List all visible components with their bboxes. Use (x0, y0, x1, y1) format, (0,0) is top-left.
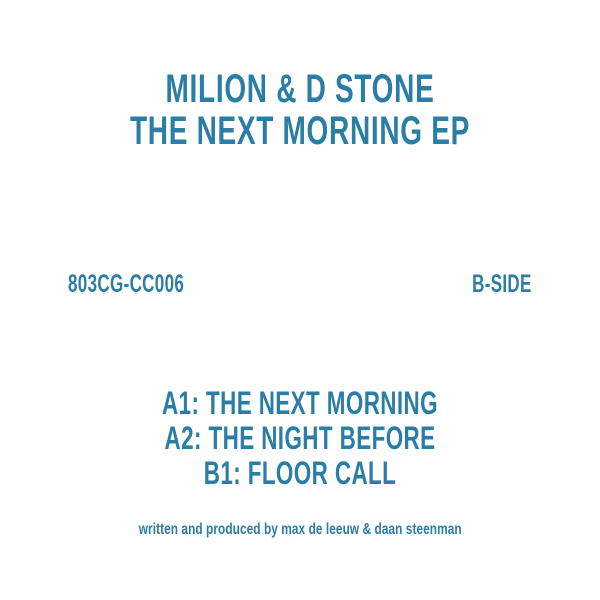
track-item: A1: THE NEXT MORNING (90, 386, 510, 421)
meta-row: 803CG-CC006 B-SIDE (68, 272, 532, 296)
title-block: MILION & D STONE THE NEXT MORNING EP (0, 68, 600, 152)
track-item: B1: FLOOR CALL (90, 456, 510, 491)
credits-block: written and produced by max de leeuw & d… (0, 521, 600, 539)
tracklist: A1: THE NEXT MORNING A2: THE NIGHT BEFOR… (0, 386, 600, 491)
credits-text: written and produced by max de leeuw & d… (139, 521, 462, 539)
catalog-number: 803CG-CC006 (68, 272, 184, 296)
record-sleeve-artwork: MILION & D STONE THE NEXT MORNING EP 803… (0, 0, 600, 600)
release-title: THE NEXT MORNING EP (90, 110, 510, 152)
side-label: B-SIDE (472, 272, 532, 296)
track-item: A2: THE NIGHT BEFORE (90, 421, 510, 456)
artist-name: MILION & D STONE (90, 68, 510, 110)
